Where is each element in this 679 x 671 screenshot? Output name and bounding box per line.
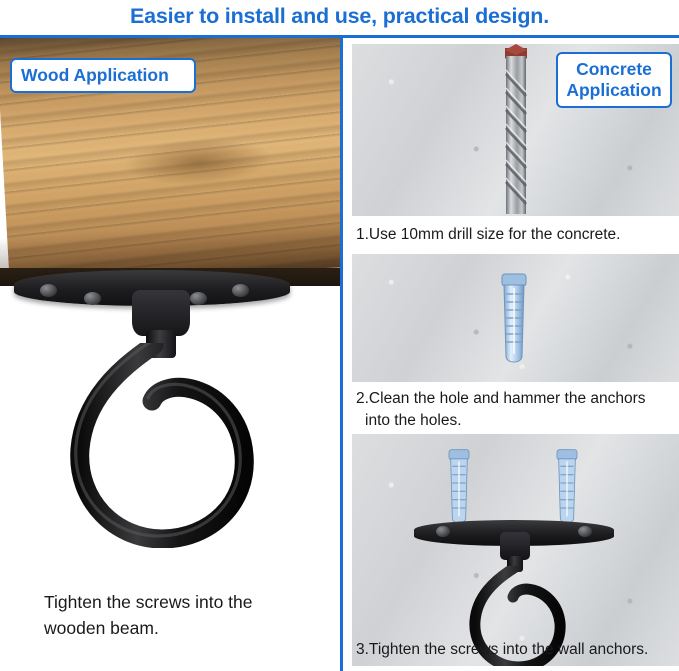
wall-anchor-icon [440, 448, 478, 528]
concrete-label-line1: Concrete [564, 59, 664, 80]
step-2-image [352, 254, 679, 382]
plate-screw-icon [84, 292, 101, 305]
step-1-caption: 1.Use 10mm drill size for the concrete. [356, 224, 676, 246]
step-2-caption-line1: 2.Clean the hole and hammer the anchors [356, 388, 676, 410]
swing-hook-graphic [58, 343, 278, 548]
page-title: Easier to install and use, practical des… [0, 0, 679, 32]
step-3-image [352, 434, 679, 666]
wood-application-label: Wood Application [10, 58, 196, 93]
drill-bit-icon [499, 44, 533, 216]
plate-screw-icon [436, 526, 450, 537]
header-banner: Easier to install and use, practical des… [0, 0, 679, 37]
concrete-application-label: Concrete Application [556, 52, 672, 108]
wood-application-photo [0, 38, 340, 548]
plate-screw-icon [190, 292, 207, 305]
step-2-caption: 2.Clean the hole and hammer the anchors … [356, 388, 676, 432]
wood-application-panel: Tighten the screws into the wooden beam. [0, 38, 340, 671]
plate-screw-icon [232, 284, 249, 297]
plate-screw-icon [40, 284, 57, 297]
wall-anchor-icon [548, 448, 586, 528]
product-infographic: Easier to install and use, practical des… [0, 0, 679, 671]
wood-caption-line2: wooden beam. [44, 615, 324, 641]
concrete-label-line2: Application [564, 80, 664, 101]
wood-caption: Tighten the screws into the wooden beam. [44, 589, 324, 641]
plate-screw-icon [578, 526, 592, 537]
wall-anchor-icon [493, 272, 535, 368]
step-3-caption: 3.Tighten the screws into the wall ancho… [356, 639, 676, 661]
concrete-application-panel: 1.Use 10mm drill size for the concrete. [343, 38, 679, 671]
step-2-caption-line2: into the holes. [356, 410, 676, 432]
wood-caption-line1: Tighten the screws into the [44, 589, 324, 615]
